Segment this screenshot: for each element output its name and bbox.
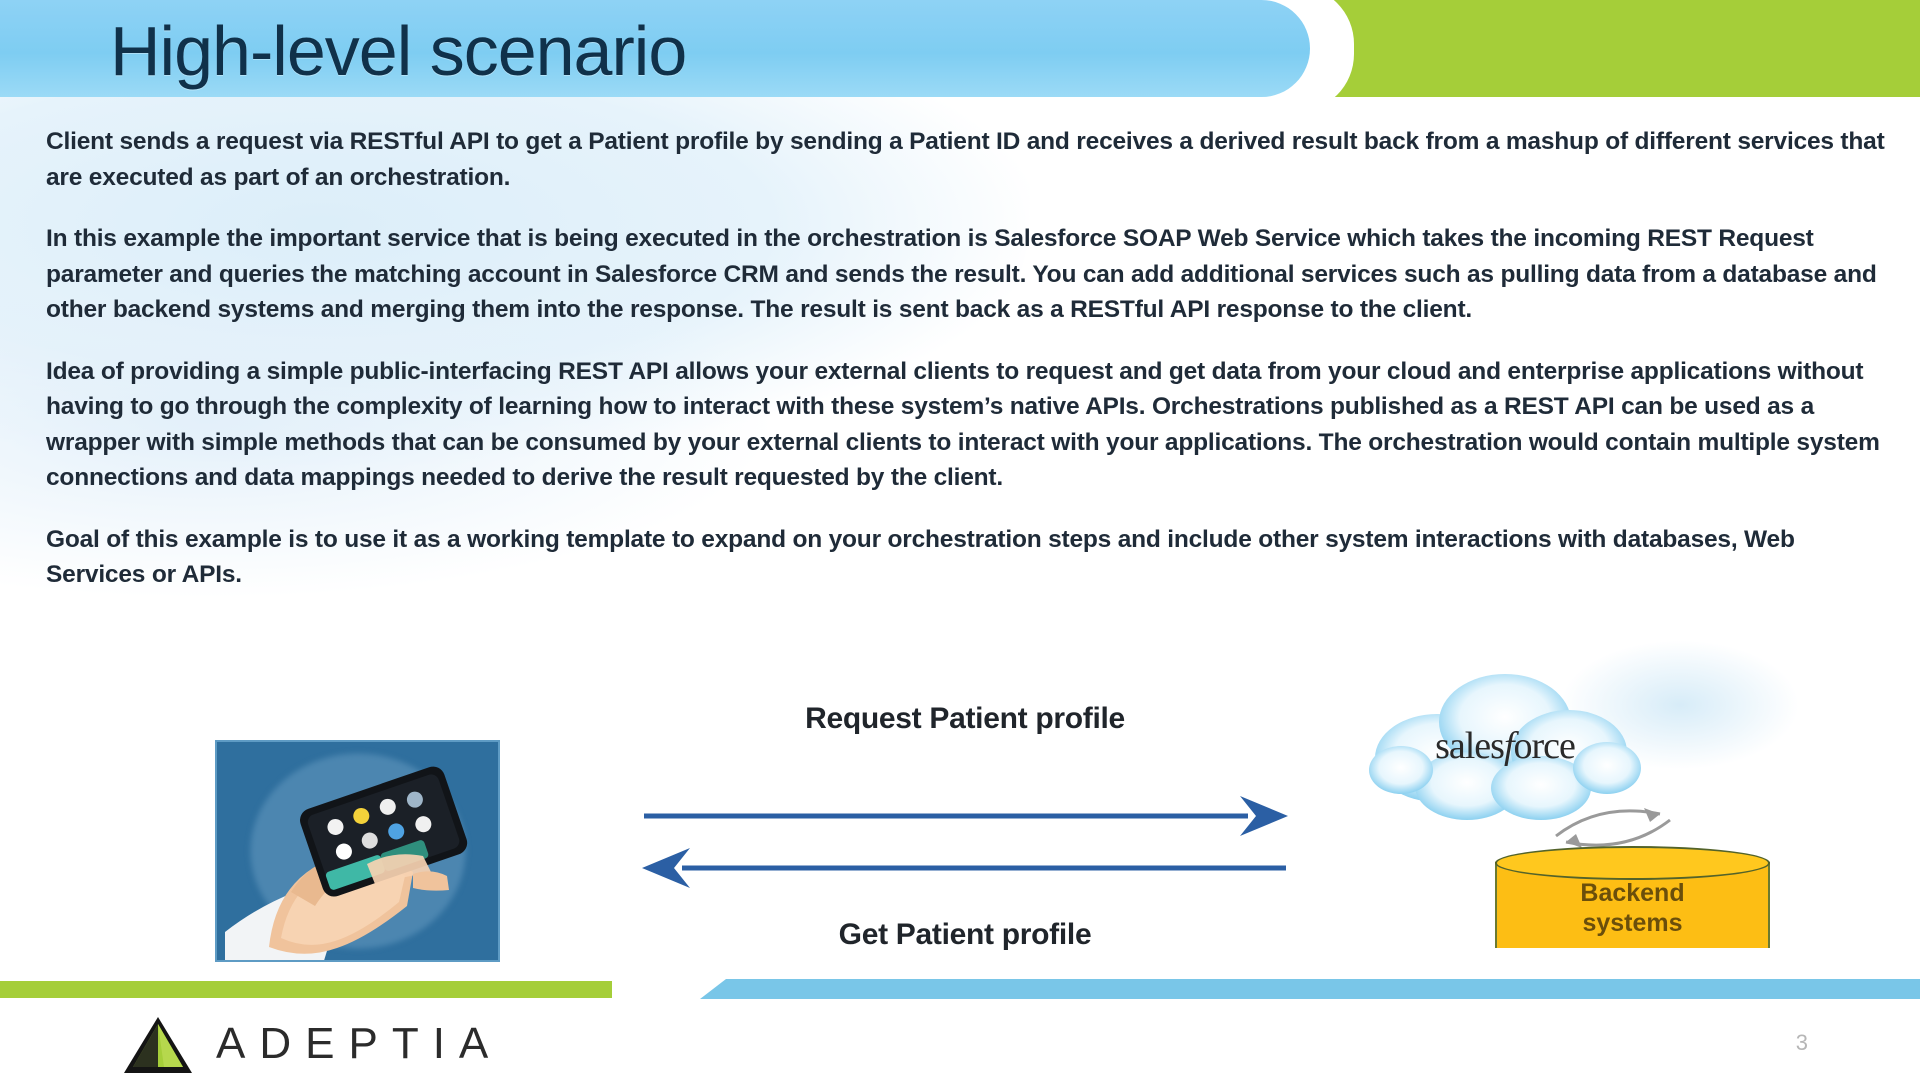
smartphone-in-hand-icon [217, 742, 500, 962]
db-top-ellipse [1495, 846, 1770, 880]
db-label: Backend systems [1495, 878, 1770, 938]
scenario-diagram: Request Patient profile Get Patient prof… [0, 720, 1920, 980]
arrow-top-label: Request Patient profile [640, 702, 1290, 736]
arrow-bottom-label: Get Patient profile [640, 918, 1290, 952]
db-label-line1: Backend [1495, 878, 1770, 908]
adeptia-triangle-icon [120, 1015, 196, 1077]
paragraph-1: Client sends a request via RESTful API t… [46, 124, 1896, 195]
salesforce-word-b: orce [1514, 725, 1575, 767]
paragraph-4: Goal of this example is to use it as a w… [46, 522, 1896, 593]
client-device-image [215, 740, 500, 962]
adeptia-logo: ADEPTIA [120, 1015, 680, 1077]
page-number: 3 [1796, 1030, 1808, 1056]
paragraph-3: Idea of providing a simple public-interf… [46, 354, 1896, 496]
salesforce-word-f: f [1504, 725, 1514, 767]
db-label-line2: systems [1495, 908, 1770, 938]
footer-blue-bar [700, 979, 1920, 999]
footer-green-bar [0, 981, 612, 998]
adeptia-wordmark: ADEPTIA [216, 1019, 502, 1069]
slide: High-level scenario Client sends a reque… [0, 0, 1920, 1080]
salesforce-wordmark: salesforce [1355, 724, 1655, 768]
header-green-block [1320, 0, 1920, 97]
backend-systems-database: Backend systems [1495, 846, 1770, 964]
request-response-arrows: Request Patient profile Get Patient prof… [640, 720, 1290, 970]
body-text: Client sends a request via RESTful API t… [46, 124, 1896, 593]
page-title: High-level scenario [110, 6, 686, 96]
salesforce-word-a: sales [1435, 725, 1504, 767]
arrow-pair-icon [640, 750, 1290, 930]
paragraph-2: In this example the important service th… [46, 221, 1896, 328]
